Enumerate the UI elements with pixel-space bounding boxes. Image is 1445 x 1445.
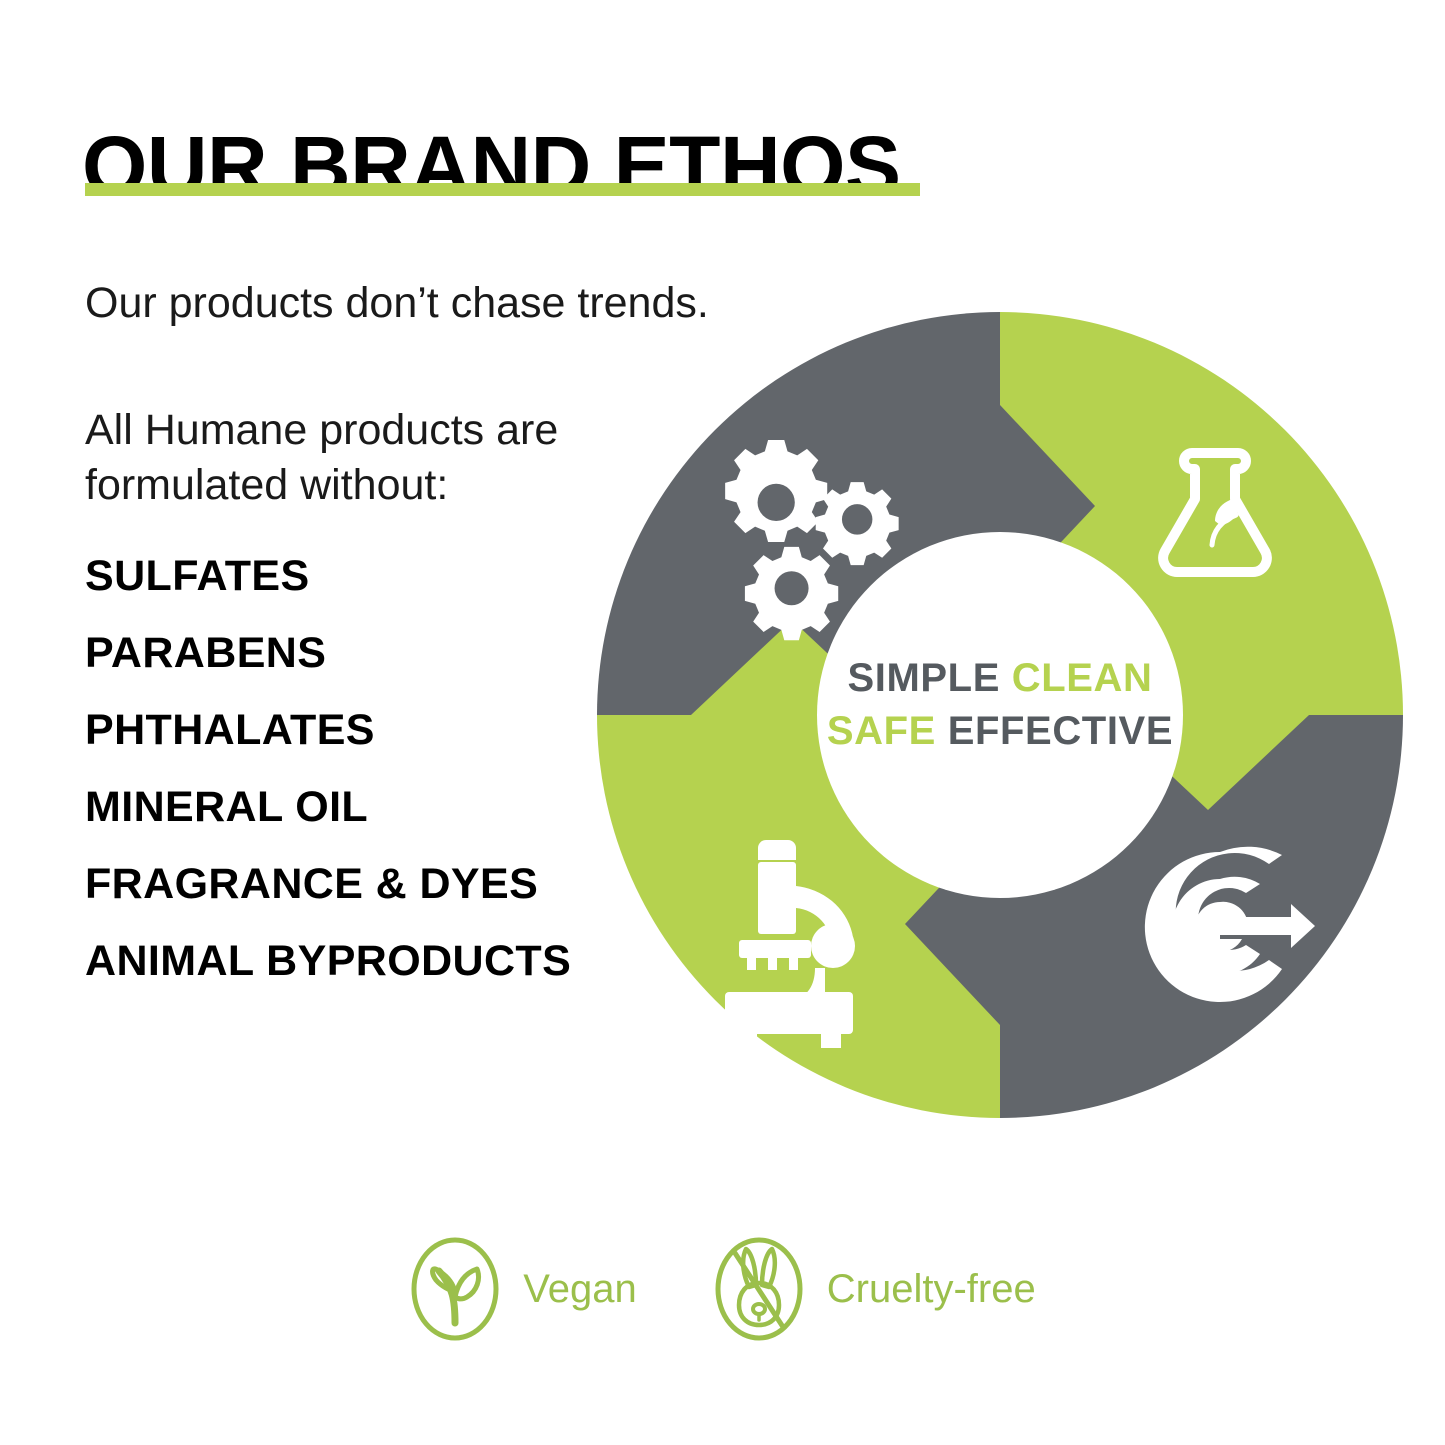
badge-cruelty-free: Cruelty-free bbox=[713, 1235, 1036, 1343]
list-item: SULFATES bbox=[85, 555, 571, 598]
exclusions-list: SULFATES PARABENS PHTHALATES MINERAL OIL… bbox=[85, 555, 571, 1017]
list-item: PHTHALATES bbox=[85, 709, 571, 752]
badge-label-vegan: Vegan bbox=[523, 1269, 636, 1309]
certification-badges: Vegan Cruelty-free bbox=[0, 1235, 1445, 1343]
cruelty-free-rabbit-icon bbox=[713, 1235, 805, 1343]
title-accent-rule bbox=[85, 183, 920, 196]
vegan-sprout-icon bbox=[409, 1235, 501, 1343]
list-item: PARABENS bbox=[85, 632, 571, 675]
list-item: FRAGRANCE & DYES bbox=[85, 863, 571, 906]
badge-label-cruelty-free: Cruelty-free bbox=[827, 1269, 1036, 1309]
ethos-cycle-diagram bbox=[597, 312, 1403, 1118]
badge-vegan: Vegan bbox=[409, 1235, 636, 1343]
list-item: MINERAL OIL bbox=[85, 786, 571, 829]
list-item: ANIMAL BYPRODUCTS bbox=[85, 940, 571, 983]
brand-ethos-infographic: OUR BRAND ETHOS Our products don’t chase… bbox=[0, 0, 1445, 1445]
